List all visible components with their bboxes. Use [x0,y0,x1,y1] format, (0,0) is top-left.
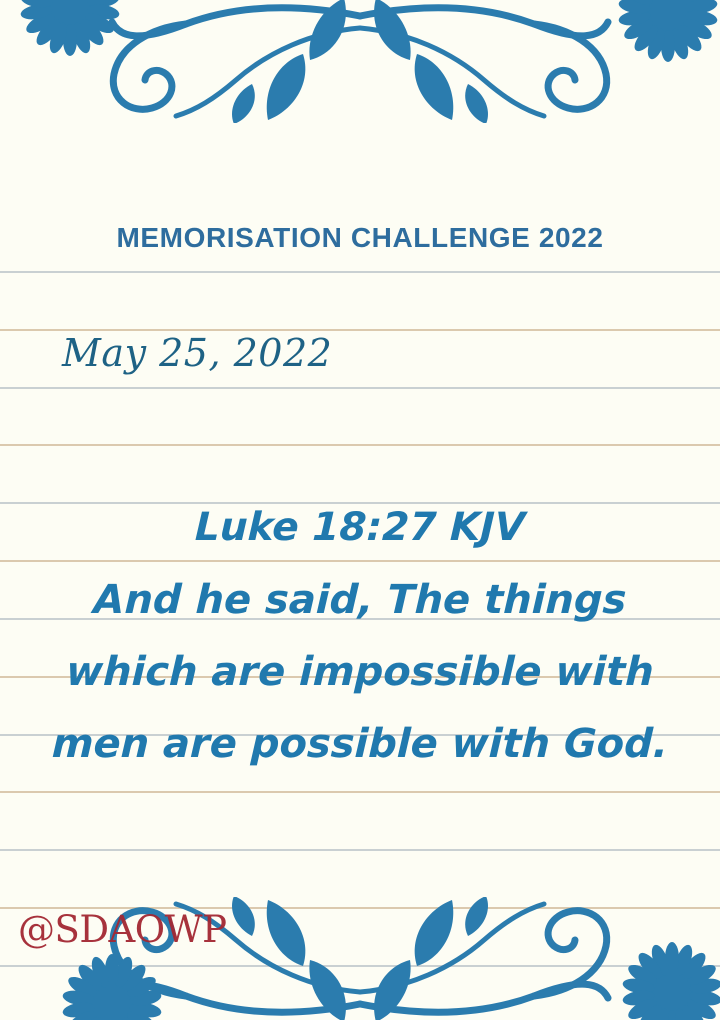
rule-line-2 [0,387,720,389]
verse-reference: Luke 18:27 KJV [0,492,720,564]
memory-verse-card: MEMORISATION CHALLENGE 2022 May 25, 2022… [0,0,720,1020]
flower-top-right [618,0,719,62]
vine-right [360,0,608,123]
verse-block: Luke 18:27 KJV And he said, The things w… [0,492,720,780]
watermark-handle: @SDAOWP [18,908,227,951]
date-label: May 25, 2022 [62,331,332,375]
floral-vine-svg [0,0,720,123]
flower-top-left [20,0,121,56]
rule-line-10 [0,849,720,851]
flower-bottom-right [622,942,720,1020]
rule-line-0 [0,271,720,273]
rule-line-12 [0,965,720,967]
verse-text-line-3: men are possible with God. [0,708,720,780]
rule-line-3 [0,444,720,446]
verse-text-line-2: which are impossible with [0,636,720,708]
floral-border-top [0,0,720,123]
flower-bottom-left [62,954,163,1020]
page-title: MEMORISATION CHALLENGE 2022 [0,222,720,254]
rule-line-9 [0,791,720,793]
vine-left [112,0,360,123]
verse-text-line-1: And he said, The things [0,564,720,636]
vine-right [360,897,608,1020]
